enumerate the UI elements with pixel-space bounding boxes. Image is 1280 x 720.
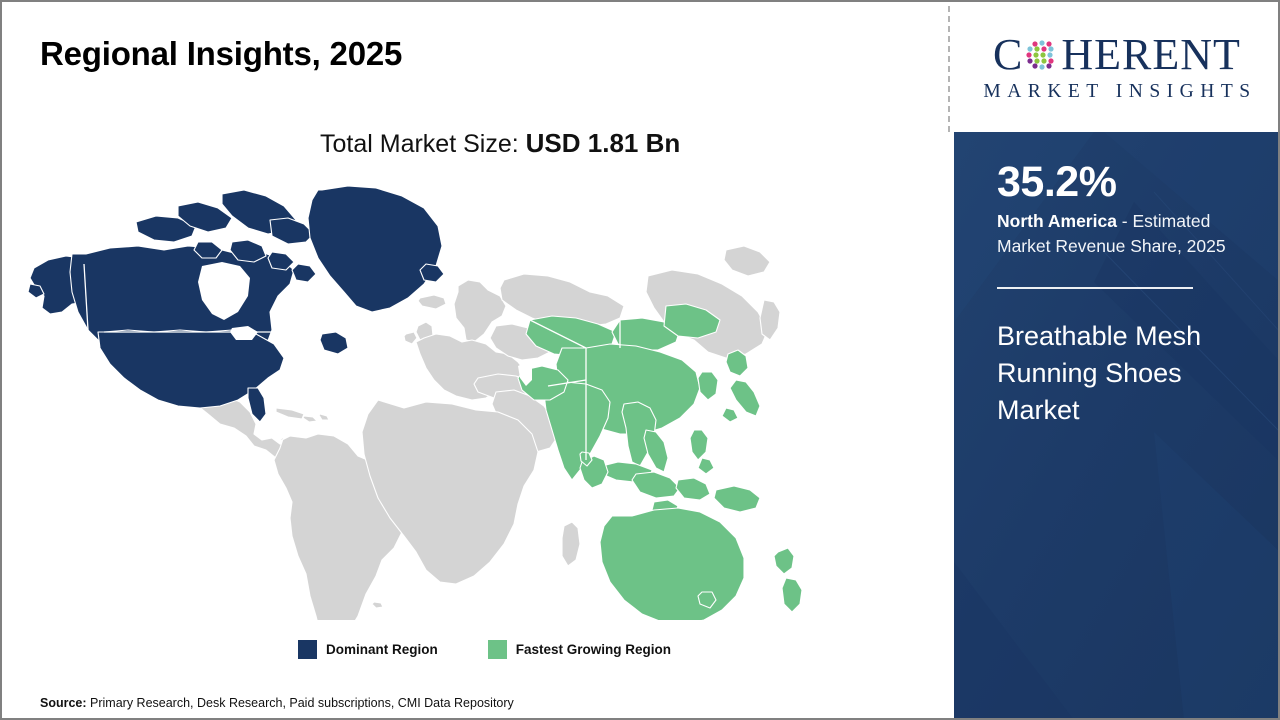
logo-wordmark: C — [993, 33, 1241, 77]
legend-label-dominant: Dominant Region — [326, 642, 438, 657]
vertical-dashed-divider — [948, 6, 950, 132]
world-map-container — [26, 180, 846, 620]
highlight-panel: 35.2% North America - Estimated Market R… — [954, 132, 1280, 720]
total-market-size-label: Total Market Size: — [320, 130, 519, 158]
total-market-size: Total Market Size: USD 1.81 Bn — [320, 128, 680, 159]
panel-content: 35.2% North America - Estimated Market R… — [997, 160, 1259, 428]
source-label: Source: — [40, 696, 87, 710]
legend-swatch-dominant — [298, 640, 317, 659]
stat-region-name: North America — [997, 211, 1117, 231]
page-title: Regional Insights, 2025 — [40, 35, 402, 73]
total-market-size-value: USD 1.81 Bn — [526, 128, 681, 158]
source-note: Source: Primary Research, Desk Research,… — [40, 696, 514, 710]
map-region-fastest-growing-asia-pacific — [518, 304, 802, 620]
legend-item-fastest-growing: Fastest Growing Region — [488, 640, 671, 659]
dotted-globe-icon — [1024, 37, 1060, 73]
logo-letter-c: C — [993, 33, 1023, 77]
regional-insights-infographic: Regional Insights, 2025 Total Market Siz… — [0, 0, 1280, 720]
map-legend: Dominant Region Fastest Growing Region — [298, 640, 671, 659]
stat-percentage: 35.2% — [997, 160, 1259, 206]
stat-caption: North America - Estimated Market Revenue… — [997, 209, 1259, 260]
source-text: Primary Research, Desk Research, Paid su… — [87, 696, 514, 710]
left-content-pane: Regional Insights, 2025 Total Market Siz… — [2, 2, 950, 718]
legend-label-fastest-growing: Fastest Growing Region — [516, 642, 671, 657]
panel-divider-rule — [997, 287, 1193, 289]
coherent-market-insights-logo: C — [954, 4, 1280, 132]
logo-tagline: MARKET INSIGHTS — [977, 81, 1256, 103]
world-map-svg — [26, 180, 846, 620]
market-title: Breathable Mesh Running Shoes Market — [997, 318, 1259, 428]
legend-swatch-fastest-growing — [488, 640, 507, 659]
logo-word-herent: HERENT — [1061, 33, 1241, 77]
legend-item-dominant: Dominant Region — [298, 640, 438, 659]
